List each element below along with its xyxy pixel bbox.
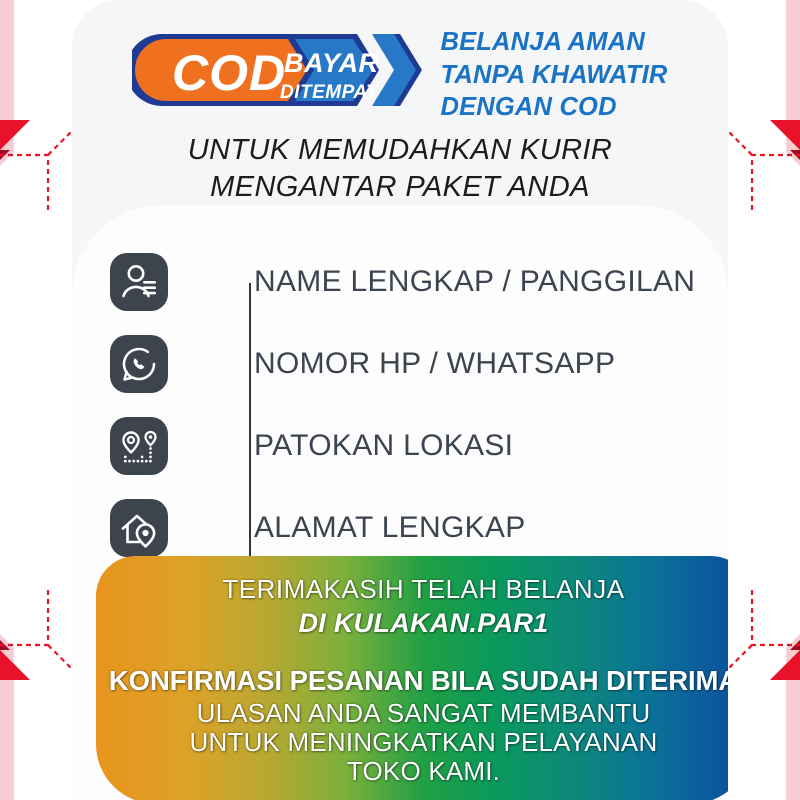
list-item[interactable]: NOMOR HP / WHATSAPP <box>110 323 710 405</box>
banner-line-6: TOKO KAMI. <box>96 756 728 787</box>
list-item[interactable]: NAME LENGKAP / PANGGILAN <box>110 241 710 323</box>
contact-person-icon <box>110 253 168 311</box>
list-item-label: NOMOR HP / WHATSAPP <box>254 347 615 381</box>
cod-logo-ditempat-text: DITEMPAT <box>280 82 379 103</box>
list-item-label: NAME LENGKAP / PANGGILAN <box>254 265 695 299</box>
list-item[interactable]: PATOKAN LOKASI <box>110 405 710 487</box>
list-item-label: ALAMAT LENGKAP <box>254 511 526 545</box>
cod-logo: COD BAYAR DITEMPAT <box>132 28 422 112</box>
banner-line-5: UNTUK MENINGKATKAN PELAYANAN <box>96 727 728 758</box>
required-info-list: NAME LENGKAP / PANGGILAN NOMOR HP / WHAT… <box>110 241 710 569</box>
home-location-pin-icon <box>110 499 168 557</box>
cod-logo-bayar-text: BAYAR <box>284 48 379 78</box>
details-panel: NAME LENGKAP / PANGGILAN NOMOR HP / WHAT… <box>72 205 728 800</box>
header-tagline: BELANJA AMAN TANPA KHAWATIR DENGAN COD <box>440 26 667 124</box>
whatsapp-phone-icon <box>110 335 168 393</box>
thankyou-banner: TERIMAKASIH TELAH BELANJA DI KULAKAN.PAR… <box>96 556 728 800</box>
banner-line-4: ULASAN ANDA SANGAT MEMBANTU <box>96 698 728 729</box>
page-subtitle: UNTUK MEMUDAHKAN KURIR MENGANTAR PAKET A… <box>72 132 728 206</box>
banner-line-2: DI KULAKAN.PAR1 <box>96 608 728 639</box>
banner-line-1: TERIMAKASIH TELAH BELANJA <box>96 574 728 605</box>
cod-logo-text: COD <box>172 45 286 101</box>
header: COD BAYAR DITEMPAT BELANJA AMAN TANPA KH… <box>72 24 728 124</box>
list-item-label: PATOKAN LOKASI <box>254 429 513 463</box>
map-route-pins-icon <box>110 417 168 475</box>
banner-line-3: KONFIRMASI PESANAN BILA SUDAH DITERIMA <box>96 665 728 697</box>
